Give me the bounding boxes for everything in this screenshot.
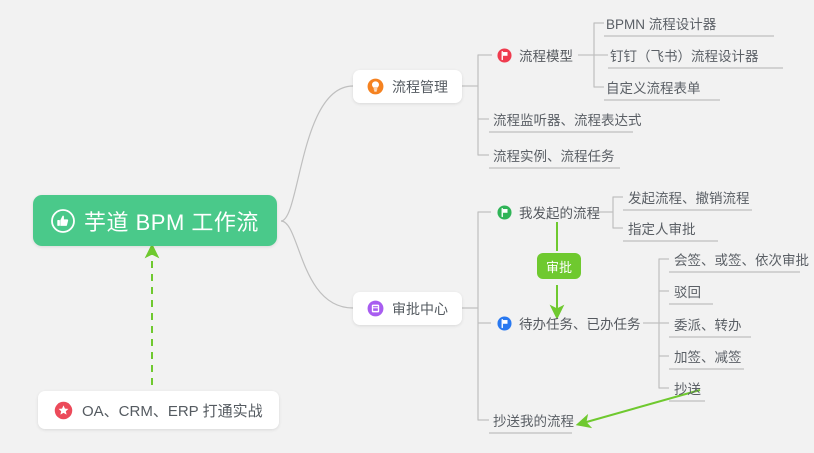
- branch-label: 审批中心: [392, 299, 448, 319]
- leaf-node[interactable]: 钉钉（飞书）流程设计器: [602, 42, 767, 68]
- leaf-label: 委派、转办: [674, 314, 742, 334]
- leaf-label: 流程监听器、流程表达式: [493, 109, 642, 129]
- leaf-node[interactable]: 加签、减签: [666, 343, 750, 369]
- leaf-node[interactable]: 流程实例、流程任务: [485, 142, 623, 168]
- flow-tag-label: 审批: [546, 257, 572, 276]
- leaf-node[interactable]: 流程监听器、流程表达式: [485, 106, 650, 132]
- leaf-label: 指定人审批: [628, 218, 696, 238]
- leaf-node[interactable]: 驳回: [666, 278, 709, 304]
- branch-label: 流程管理: [392, 77, 448, 97]
- subnode-process-model[interactable]: 流程模型: [489, 42, 581, 68]
- leaf-label: 钉钉（飞书）流程设计器: [610, 45, 759, 65]
- subnode-label: 待办任务、已办任务: [519, 313, 641, 333]
- flag-icon: [497, 316, 512, 331]
- flow-tag-approval: 审批: [537, 253, 581, 279]
- leaf-label: 驳回: [674, 281, 701, 301]
- leaf-node[interactable]: 委派、转办: [666, 311, 750, 337]
- leaf-label: 自定义流程表单: [606, 77, 701, 97]
- subnode-label: 流程模型: [519, 45, 573, 65]
- subnode-todo-done-tasks[interactable]: 待办任务、已办任务: [489, 310, 649, 336]
- subnode-my-initiated-processes[interactable]: 我发起的流程: [489, 199, 608, 225]
- leaf-label: 流程实例、流程任务: [493, 145, 615, 165]
- thumbs-up-icon: [51, 209, 75, 233]
- calendar-icon: [367, 300, 384, 317]
- note-node[interactable]: OA、CRM、ERP 打通实战: [38, 391, 279, 429]
- mindmap-canvas: 芋道 BPM 工作流 OA、CRM、ERP 打通实战 流程管理: [0, 0, 814, 453]
- leaf-label: 抄送: [674, 378, 701, 398]
- branch-node-process-management[interactable]: 流程管理: [353, 70, 462, 103]
- root-node[interactable]: 芋道 BPM 工作流: [33, 195, 277, 246]
- leaf-node[interactable]: 抄送我的流程: [485, 407, 582, 433]
- root-label: 芋道 BPM 工作流: [84, 205, 259, 237]
- leaf-label: 发起流程、撤销流程: [628, 187, 750, 207]
- leaf-node[interactable]: BPMN 流程设计器: [598, 10, 724, 36]
- leaf-node[interactable]: 发起流程、撤销流程: [620, 184, 758, 210]
- leaf-label: BPMN 流程设计器: [606, 13, 716, 33]
- note-label: OA、CRM、ERP 打通实战: [82, 400, 263, 421]
- leaf-label: 会签、或签、依次审批: [674, 249, 809, 269]
- lightbulb-icon: [367, 78, 384, 95]
- flag-icon: [497, 205, 512, 220]
- star-icon: [54, 401, 73, 420]
- leaf-label: 抄送我的流程: [493, 410, 574, 430]
- leaf-node[interactable]: 抄送: [666, 375, 709, 401]
- leaf-node[interactable]: 会签、或签、依次审批: [666, 246, 814, 272]
- leaf-label: 加签、减签: [674, 346, 742, 366]
- leaf-node[interactable]: 自定义流程表单: [598, 74, 709, 100]
- branch-node-approval-center[interactable]: 审批中心: [353, 292, 462, 325]
- flag-icon: [497, 48, 512, 63]
- subnode-label: 我发起的流程: [519, 202, 600, 222]
- leaf-node[interactable]: 指定人审批: [620, 215, 704, 241]
